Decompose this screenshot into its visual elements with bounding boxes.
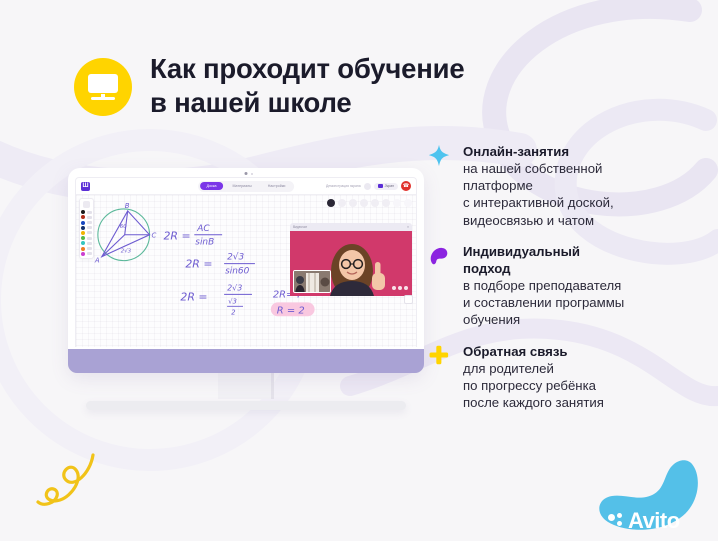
math-line-3-lhs: 2R = [180, 290, 207, 303]
feature-text: Индивидуальный подход в подборе преподав… [463, 243, 624, 329]
vertex-label-C: C [152, 232, 157, 240]
feature-item-feedback: Обратная связь для родителей по прогресс… [427, 343, 699, 412]
self-view-illustration [294, 271, 331, 293]
feature-text: Онлайн-занятия на нашей собственной плат… [463, 143, 614, 229]
angle-label: 60 [120, 224, 127, 230]
feature-title: Обратная связь [463, 343, 604, 360]
brand-badge [74, 58, 132, 116]
whiteboard-canvas[interactable]: B A C 60 2√3 2R = AC sinB 2R = [76, 195, 416, 347]
app-logo-icon: Ш [81, 182, 90, 191]
tab-nastroyki[interactable]: Настройки [261, 182, 293, 190]
feature-text: Обратная связь для родителей по прогресс… [463, 343, 604, 412]
video-panel-title: Видеочат [293, 225, 307, 229]
math-line-2-den: sin60 [225, 267, 249, 277]
math-line-3-den-den: 2 [231, 308, 235, 316]
webcam-dot [245, 172, 248, 175]
feature-description: в подборе преподавателя и составлении пр… [463, 277, 624, 328]
math-line-2-lhs: 2R = [185, 258, 212, 271]
math-line-1-den: sinB [195, 238, 214, 248]
page-header: Как проходит обучение в нашей школе [74, 52, 464, 119]
feature-description: для родителей по прогрессу ребёнка после… [463, 360, 604, 411]
video-panel-header[interactable]: Видеочат × [290, 223, 412, 231]
side-label: 2√3 [121, 248, 132, 255]
watermark-text: Avito [628, 508, 680, 534]
monitor-stand [218, 373, 274, 399]
gear-icon[interactable] [364, 183, 371, 190]
screen-share-icon [378, 184, 383, 188]
feature-title: Индивидуальный подход [463, 243, 624, 277]
yellow-swirl-decoration [18, 452, 98, 519]
plus-icon [427, 343, 453, 412]
session-label: Демонстрация экрана [326, 184, 361, 188]
crescent-icon [427, 243, 453, 329]
feature-item-online: Онлайн-занятия на нашей собственной плат… [427, 143, 699, 229]
share-chip-label: Экран [385, 184, 394, 188]
feature-item-individual: Индивидуальный подход в подборе преподав… [427, 243, 699, 329]
resize-handle-icon[interactable] [404, 295, 413, 304]
more-dots-icon[interactable] [392, 286, 408, 290]
app-bar-right: Демонстрация экрана Экран ☎ [326, 181, 411, 191]
tab-materialy[interactable]: Материалы [226, 182, 259, 190]
feature-list: Онлайн-занятия на нашей собственной плат… [427, 143, 699, 425]
math-line-1-num: AC [196, 224, 210, 234]
star-sparkle-icon [427, 143, 453, 229]
screen-area: Ш Доска Материалы Настройки Демонстрация… [75, 177, 417, 347]
page-title: Как проходит обучение в нашей школе [150, 52, 464, 119]
tab-bar[interactable]: Доска Материалы Настройки [198, 181, 294, 192]
tab-doska[interactable]: Доска [200, 182, 224, 190]
feature-title: Онлайн-занятия [463, 143, 614, 160]
phone-hangup-icon[interactable]: ☎ [401, 181, 411, 191]
math-line-1-lhs: 2R = [163, 230, 190, 243]
feature-description: на нашей собственной платформе с интерак… [463, 160, 614, 229]
avito-watermark: Avito [608, 508, 680, 534]
monitor-mockup: Ш Доска Материалы Настройки Демонстрация… [68, 168, 424, 410]
monitor-icon [88, 74, 118, 100]
math-answer: R = 2 [277, 305, 305, 316]
self-view-thumbnail[interactable] [293, 270, 331, 293]
video-feed [290, 231, 412, 296]
video-panel[interactable]: Видеочат × [290, 223, 412, 296]
math-line-2-num: 2√3 [227, 252, 244, 263]
close-icon[interactable]: × [407, 225, 409, 229]
monitor-bezel: Ш Доска Материалы Настройки Демонстрация… [68, 168, 424, 373]
avito-dots-icon [608, 513, 625, 530]
monitor-chin [68, 347, 424, 373]
vertex-label-A: A [94, 257, 100, 265]
monitor-base [86, 401, 406, 410]
math-line-3-den-num: √3 [228, 297, 237, 305]
share-screen-chip[interactable]: Экран [374, 183, 398, 190]
vertex-label-B: B [125, 202, 130, 210]
math-line-3-num: 2√3 [227, 283, 242, 292]
app-top-bar: Ш Доска Материалы Настройки Демонстрация… [76, 178, 416, 195]
webcam-indicator [251, 173, 253, 175]
